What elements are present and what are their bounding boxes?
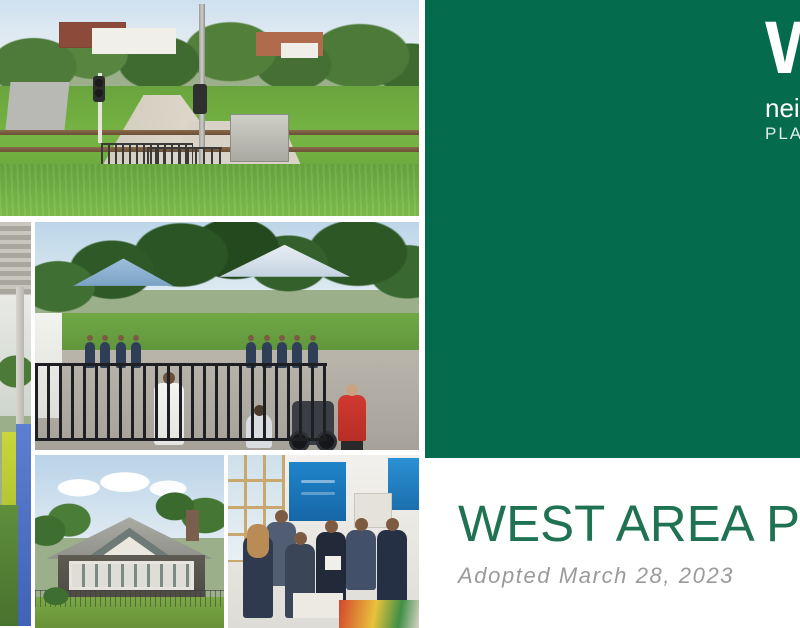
- photo-railroad-crossing-greenway: [0, 0, 419, 216]
- white-building: [92, 28, 176, 54]
- green-planting: [0, 505, 18, 626]
- person-figure: [243, 536, 273, 618]
- title-block: WEST AREA PLAN Adopted March 28, 2023: [458, 498, 788, 587]
- utility-cabinet: [230, 114, 289, 162]
- foreground-grass: [0, 164, 419, 216]
- photo-pergola-streetscape: [0, 222, 31, 626]
- page-title: WEST AREA PLAN: [458, 498, 788, 549]
- front-windows: [69, 561, 194, 590]
- photo-pergola-artwork: [0, 222, 31, 626]
- floor-display-materials: [339, 600, 419, 628]
- logo-wordmark: WEST: [765, 18, 800, 79]
- photo-railroad-artwork: [0, 0, 419, 216]
- logo-subtitle-planning: PLANNING: [765, 125, 800, 142]
- page-subtitle: Adopted March 28, 2023: [458, 565, 788, 587]
- metal-railing: [35, 363, 327, 441]
- photo-craftsman-bungalow-house: [35, 455, 224, 628]
- photo-event-artwork: [35, 222, 419, 450]
- photo-community-event-tents: [35, 222, 419, 450]
- person-red-shirt: [338, 395, 366, 441]
- projection-screen: [289, 462, 346, 521]
- photo-meeting-artwork: [228, 455, 419, 628]
- cover-page: WEST neighborhood PLANNING WEST AREA PLA…: [0, 0, 800, 628]
- photo-indoor-public-meeting: [228, 455, 419, 628]
- secondary-display: [388, 458, 419, 510]
- small-building: [281, 43, 319, 58]
- photo-house-artwork: [35, 455, 224, 628]
- signal-mast-light: [193, 84, 207, 114]
- chimney: [186, 510, 199, 541]
- folding-table: [293, 593, 343, 617]
- shrub: [39, 580, 73, 608]
- railroad-track: [0, 130, 419, 135]
- logo-subtitle-neighborhood: neighborhood: [765, 95, 800, 121]
- logo-block: WEST neighborhood PLANNING: [765, 18, 800, 142]
- person-figure: [346, 530, 376, 590]
- brand-green-panel: WEST neighborhood PLANNING: [425, 0, 800, 458]
- road-region: [6, 82, 70, 130]
- crossing-signal-light: [93, 76, 105, 102]
- photo-collage: [0, 0, 419, 628]
